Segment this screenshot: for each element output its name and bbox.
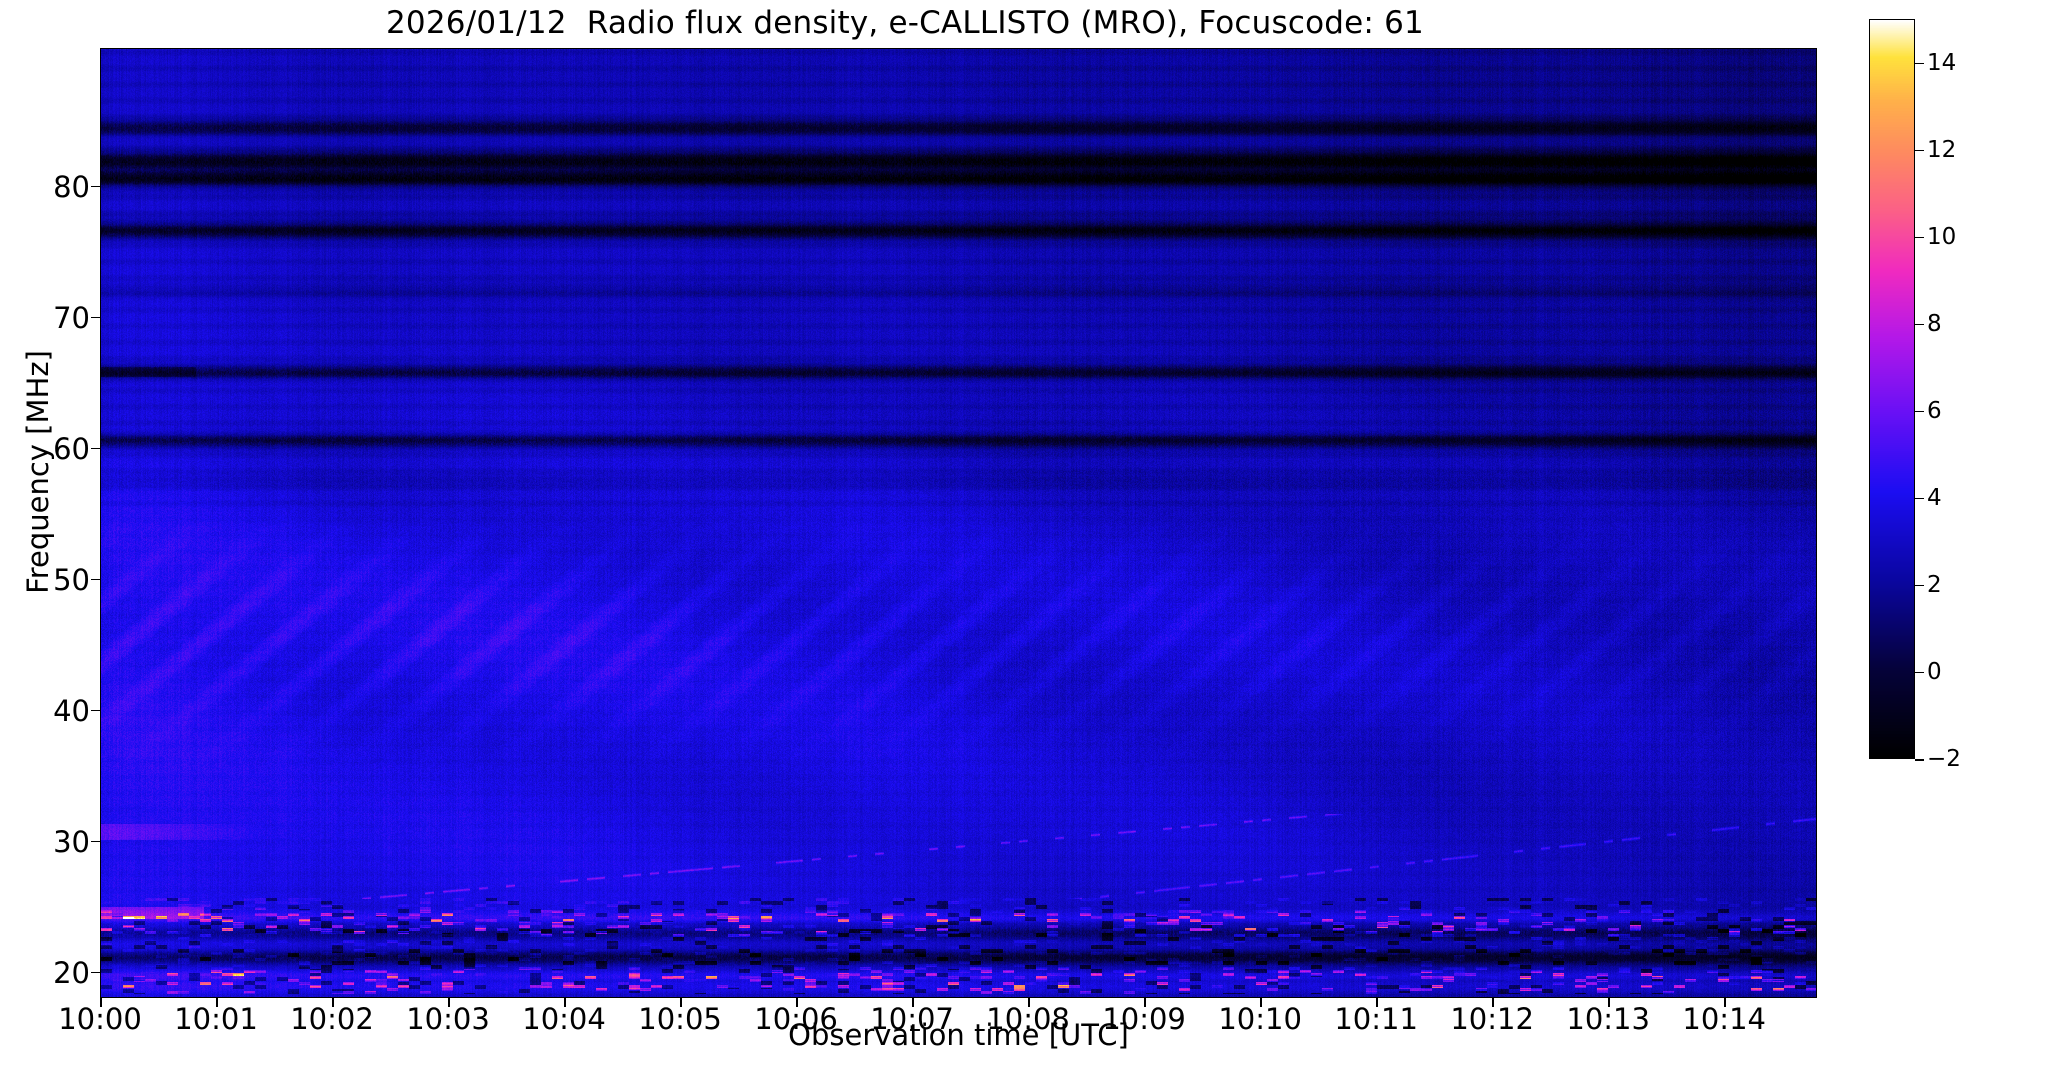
x-axis-tick-mark bbox=[332, 998, 334, 1007]
y-axis-tick-mark bbox=[91, 972, 100, 974]
y-axis-tick-label: 50 bbox=[10, 563, 90, 597]
colorbar-tick-label: 4 bbox=[1927, 485, 1942, 511]
y-axis-tick-label: 80 bbox=[10, 170, 90, 204]
x-axis-tick-mark bbox=[448, 998, 450, 1007]
x-axis-tick-mark bbox=[1724, 998, 1726, 1007]
colorbar-tick-mark bbox=[1915, 498, 1924, 500]
colorbar-tick-label: 12 bbox=[1927, 137, 1956, 163]
colorbar-tick-mark bbox=[1915, 411, 1924, 413]
y-axis-tick-mark bbox=[91, 448, 100, 450]
colorbar-tick-label: 10 bbox=[1927, 224, 1956, 250]
x-axis-tick-mark bbox=[1608, 998, 1610, 1007]
x-axis-label: Observation time [UTC] bbox=[100, 1018, 1817, 1052]
x-axis-tick-mark bbox=[1144, 998, 1146, 1007]
figure-title: 2026/01/12 Radio flux density, e-CALLIST… bbox=[0, 4, 1810, 42]
colorbar-tick-mark bbox=[1915, 759, 1924, 761]
colorbar-tick-mark bbox=[1915, 672, 1924, 674]
x-axis-tick-mark bbox=[216, 998, 218, 1007]
colorbar-tick-mark bbox=[1915, 324, 1924, 326]
x-axis-tick-mark bbox=[1376, 998, 1378, 1007]
colorbar-gradient bbox=[1869, 19, 1915, 759]
y-axis-tick-label: 70 bbox=[10, 301, 90, 335]
colorbar-tick-label: 8 bbox=[1927, 311, 1942, 337]
x-axis-tick-mark bbox=[1028, 998, 1030, 1007]
colorbar-tick-label: 2 bbox=[1927, 572, 1942, 598]
x-axis-tick-mark bbox=[680, 998, 682, 1007]
x-axis-tick-mark bbox=[100, 998, 102, 1007]
y-axis-tick-label: 40 bbox=[10, 694, 90, 728]
x-axis-tick-mark bbox=[564, 998, 566, 1007]
figure-root: 2026/01/12 Radio flux density, e-CALLIST… bbox=[0, 0, 2047, 1067]
colorbar-tick-label: 14 bbox=[1927, 50, 1956, 76]
spectrogram-plot-area bbox=[100, 48, 1817, 998]
colorbar-tick-label: 0 bbox=[1927, 659, 1942, 685]
x-axis-tick-mark bbox=[912, 998, 914, 1007]
spectrogram-canvas bbox=[101, 49, 1816, 997]
x-axis-tick-mark bbox=[1260, 998, 1262, 1007]
colorbar-tick-mark bbox=[1915, 150, 1924, 152]
y-axis-tick-mark bbox=[91, 317, 100, 319]
y-axis-tick-label: 30 bbox=[10, 825, 90, 859]
x-axis-tick-mark bbox=[1492, 998, 1494, 1007]
y-axis-tick-label: 20 bbox=[10, 956, 90, 990]
y-axis-tick-label: 60 bbox=[10, 432, 90, 466]
y-axis-tick-mark bbox=[91, 710, 100, 712]
y-axis-tick-mark bbox=[91, 579, 100, 581]
colorbar-tick-mark bbox=[1915, 63, 1924, 65]
colorbar-tick-mark bbox=[1915, 237, 1924, 239]
colorbar-tick-label: −2 bbox=[1927, 746, 1961, 772]
colorbar bbox=[1869, 19, 1915, 759]
colorbar-tick-label: 6 bbox=[1927, 398, 1942, 424]
colorbar-tick-mark bbox=[1915, 585, 1924, 587]
x-axis-tick-mark bbox=[796, 998, 798, 1007]
y-axis-tick-mark bbox=[91, 841, 100, 843]
y-axis-tick-mark bbox=[91, 186, 100, 188]
